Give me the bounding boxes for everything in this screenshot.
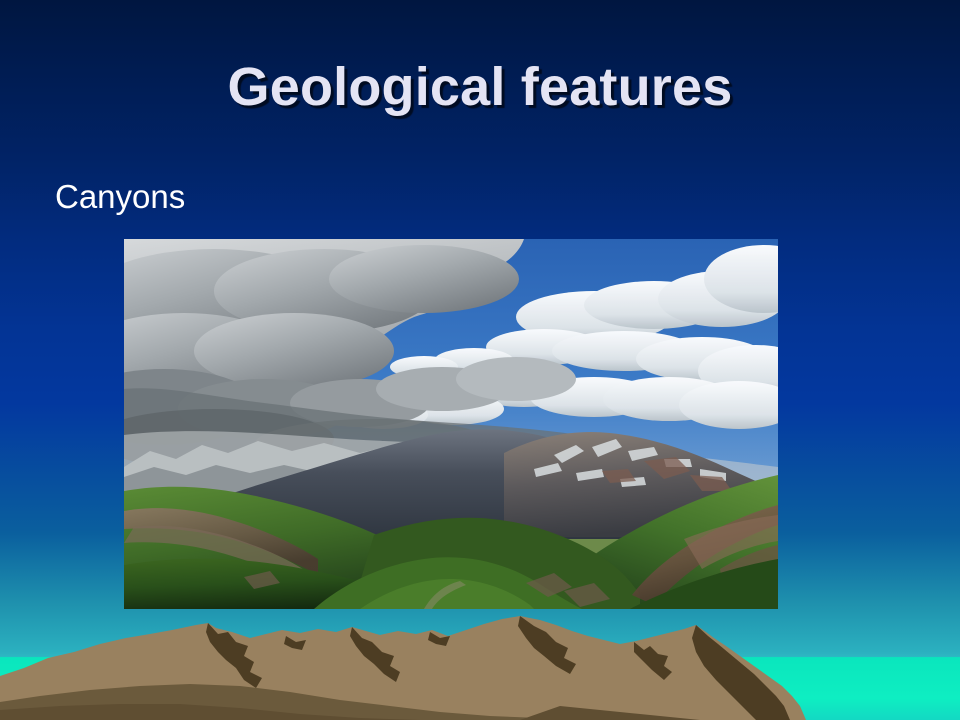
page-title: Geological features — [0, 56, 960, 118]
content-photo — [124, 239, 778, 609]
slide-canvas: Geological features Canyons — [0, 0, 960, 720]
photo-artwork — [124, 239, 778, 609]
decorative-mountain-band — [0, 610, 960, 720]
body-text-canyons: Canyons — [55, 178, 185, 216]
